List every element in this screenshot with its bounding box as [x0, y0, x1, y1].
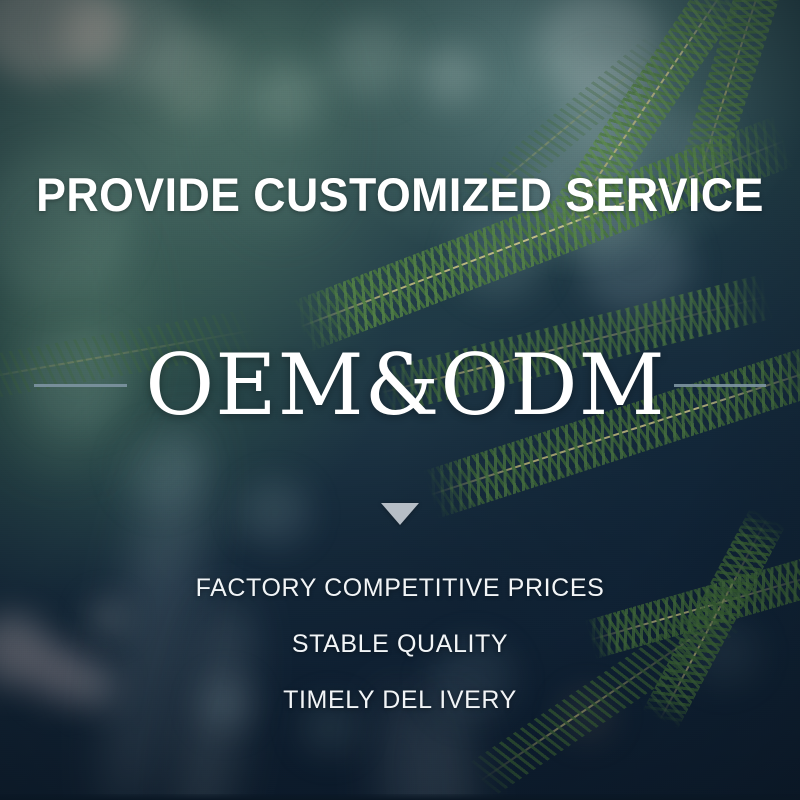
promo-banner: PROVIDE CUSTOMIZED SERVICE OEM&ODM FACTO… — [0, 0, 800, 800]
brand-lockup: OEM&ODM — [0, 330, 800, 440]
banner-content: PROVIDE CUSTOMIZED SERVICE OEM&ODM FACTO… — [0, 0, 800, 800]
feature-item: STABLE QUALITY — [0, 616, 800, 672]
divider-line-left — [34, 384, 127, 387]
divider-line-right — [674, 384, 766, 387]
page-title: PROVIDE CUSTOMIZED SERVICE — [20, 168, 780, 222]
brand-title: OEM&ODM — [145, 339, 665, 431]
feature-list: FACTORY COMPETITIVE PRICES STABLE QUALIT… — [0, 560, 800, 728]
feature-item: FACTORY COMPETITIVE PRICES — [0, 560, 800, 616]
triangle-down-icon — [381, 503, 419, 525]
feature-item: TIMELY DEL IVERY — [0, 672, 800, 728]
